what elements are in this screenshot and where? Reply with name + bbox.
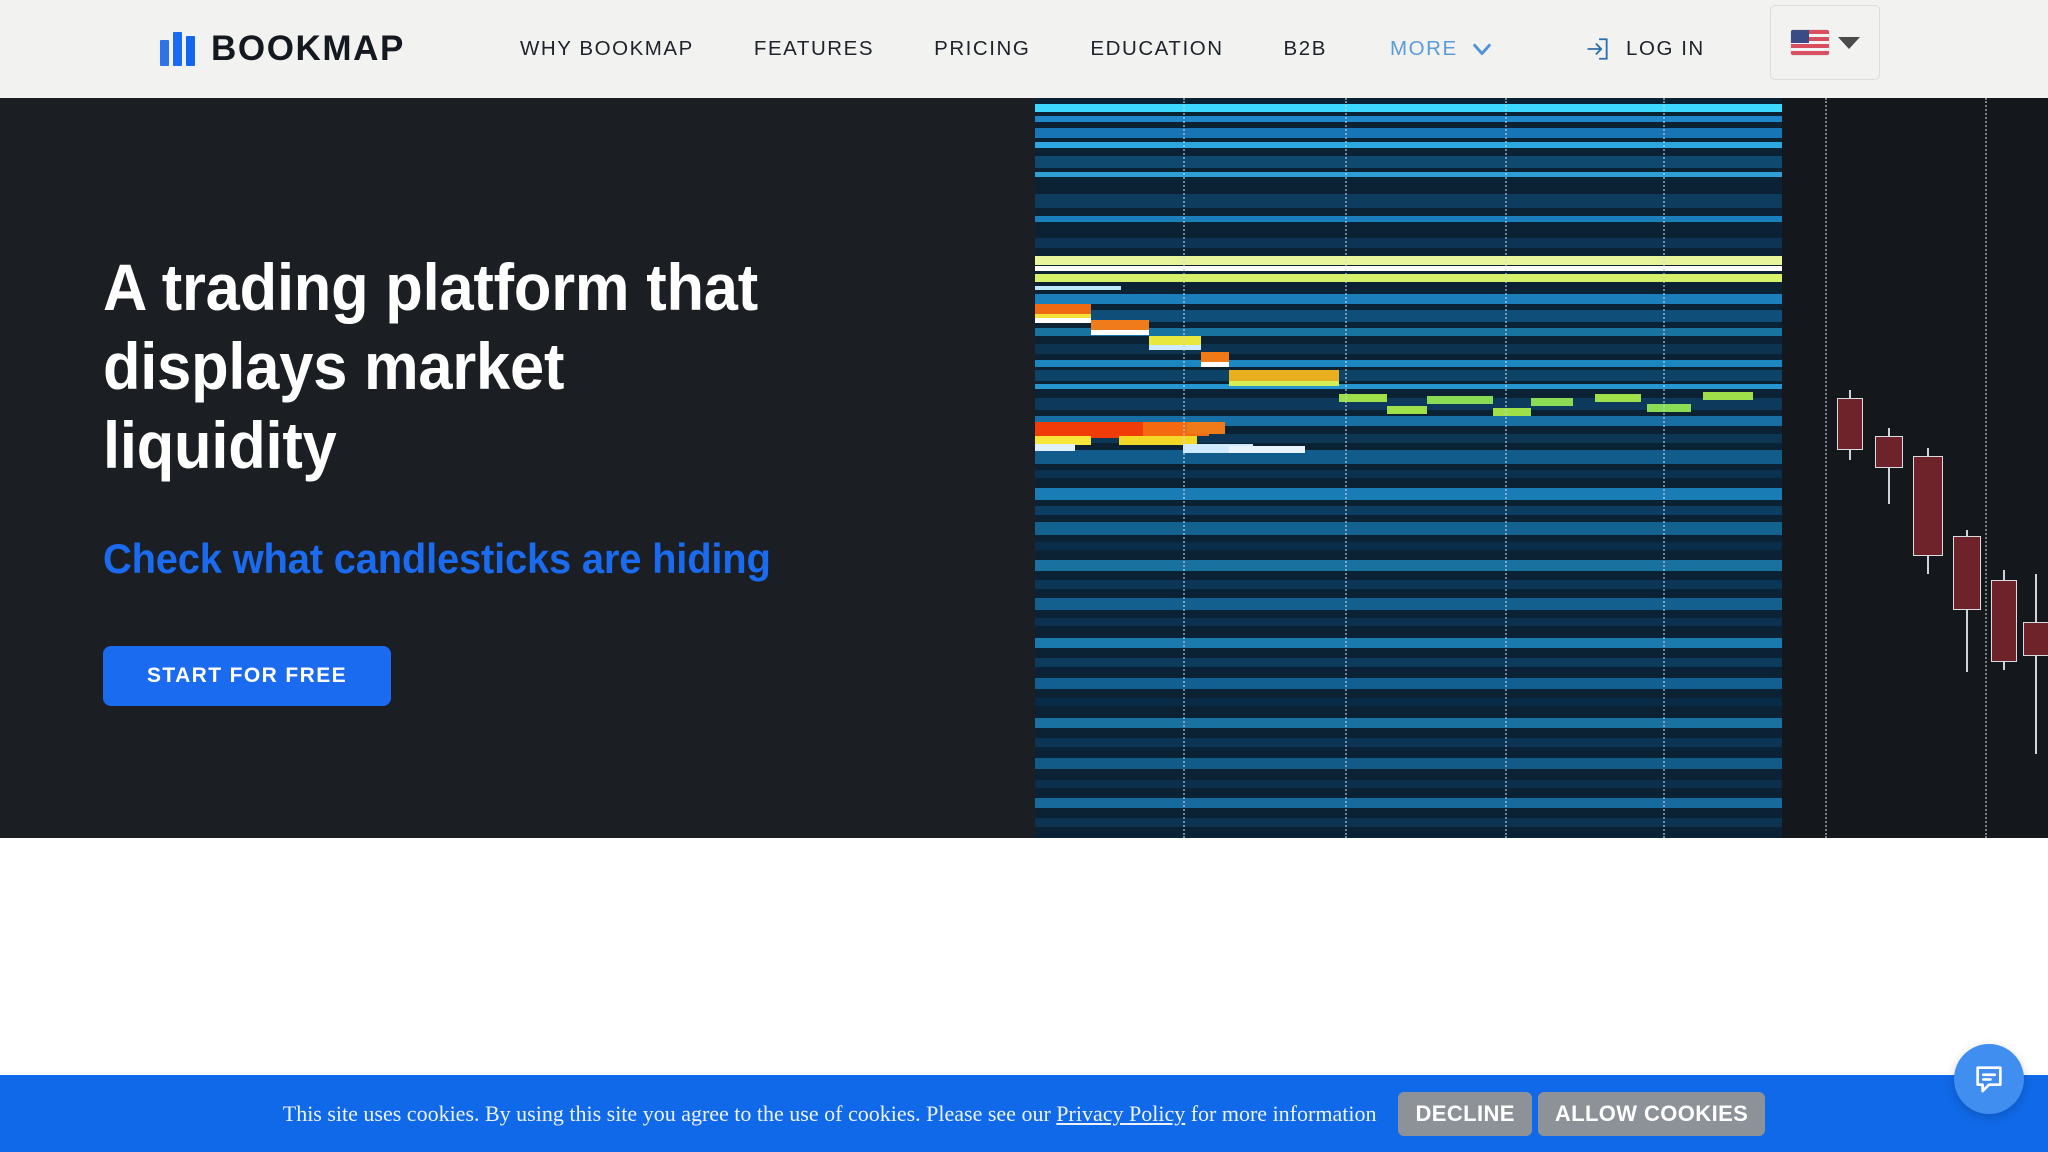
gridline	[1663, 98, 1665, 838]
heatmap-cell	[1035, 738, 1782, 747]
heatmap-cell	[1035, 194, 1782, 208]
logo[interactable]: BOOKMAP	[160, 29, 405, 69]
more-label: MORE	[1390, 37, 1458, 61]
heatmap-cell	[1035, 450, 1782, 464]
heatmap-cell	[1201, 362, 1229, 367]
decline-cookies-button[interactable]: DECLINE	[1398, 1092, 1531, 1136]
privacy-policy-link[interactable]: Privacy Policy	[1056, 1101, 1185, 1126]
chat-bubble-icon	[1972, 1062, 2006, 1096]
heatmap-cell	[1149, 345, 1201, 350]
gridline	[1825, 98, 1827, 838]
triangle-down-icon	[1838, 37, 1860, 49]
heatmap-cell	[1035, 266, 1782, 271]
heatmap-cell	[1035, 618, 1782, 626]
site-header: BOOKMAP WHY BOOKMAP FEATURES PRICING EDU…	[0, 0, 2048, 98]
heatmap-cell	[1035, 156, 1782, 168]
heatmap-cell	[1035, 638, 1782, 648]
logo-text: BOOKMAP	[211, 29, 405, 69]
heatmap-cell	[1035, 142, 1782, 148]
heatmap-cell	[1229, 370, 1339, 381]
heatmap-cell	[1035, 104, 1782, 112]
nav-item-education[interactable]: EDUCATION	[1060, 37, 1253, 61]
heatmap-cell	[1149, 336, 1201, 345]
hero-copy: A trading platform that displays market …	[103, 248, 1003, 706]
hero-title-line-3: liquidity	[103, 408, 337, 482]
chevron-down-icon	[1471, 38, 1493, 60]
heatmap-cell	[1427, 396, 1493, 404]
candlestick	[2023, 574, 2048, 754]
heatmap-cell	[1187, 422, 1225, 434]
cookie-text-after: for more information	[1185, 1101, 1376, 1126]
login-button[interactable]: LOG IN	[1585, 36, 1705, 62]
bookmap-bars-icon	[160, 32, 195, 66]
heatmap-cell	[1035, 294, 1782, 304]
heatmap-cell	[1035, 780, 1782, 788]
login-label: LOG IN	[1626, 37, 1705, 61]
nav-item-b2b[interactable]: B2B	[1254, 37, 1357, 61]
heatmap-cell	[1229, 381, 1339, 386]
heatmap-cell	[1035, 798, 1782, 808]
heatmap-cell	[1035, 344, 1782, 354]
allow-cookies-button[interactable]: ALLOW COOKIES	[1538, 1092, 1765, 1136]
heatmap-cell	[1091, 330, 1149, 335]
page-title: A trading platform that displays market …	[103, 248, 940, 485]
language-selector[interactable]	[1770, 5, 1880, 80]
cookie-text-before: This site uses cookies. By using this si…	[283, 1101, 1057, 1126]
heatmap-cell	[1387, 406, 1427, 414]
heatmap-cell	[1035, 256, 1782, 265]
heatmap-cell	[1035, 818, 1782, 827]
candlestick	[1991, 570, 2017, 670]
nav-item-pricing[interactable]: PRICING	[904, 37, 1060, 61]
heatmap-cell	[1091, 320, 1149, 330]
heatmap-canvas	[1035, 98, 1782, 838]
chat-widget-button[interactable]	[1954, 1044, 2024, 1114]
heatmap-cell	[1035, 580, 1782, 589]
gridline	[1985, 98, 1987, 838]
heatmap-cell	[1035, 560, 1782, 571]
heatmap-cell	[1035, 506, 1782, 515]
nav-item-features[interactable]: FEATURES	[724, 37, 904, 61]
us-flag-icon	[1791, 30, 1829, 55]
heatmap-cell	[1201, 352, 1229, 362]
cookie-buttons: DECLINE ALLOW COOKIES	[1398, 1092, 1765, 1136]
heatmap-cell	[1035, 384, 1782, 389]
heatmap-cell	[1035, 488, 1782, 500]
heatmap-cell	[1035, 444, 1075, 451]
heatmap-cell	[1703, 392, 1753, 400]
heatmap-cell	[1595, 394, 1641, 402]
heatmap-cell	[1035, 658, 1782, 667]
more-menu-button[interactable]: MORE	[1390, 37, 1493, 61]
heatmap-cell	[1035, 238, 1782, 248]
heatmap-cell	[1229, 446, 1305, 453]
heatmap-cell	[1035, 172, 1782, 177]
hero-title-line-2: displays market	[103, 329, 564, 403]
heatmap-cell	[1035, 128, 1782, 138]
heatmap-cell	[1035, 216, 1782, 222]
candlestick	[1913, 448, 1943, 574]
heatmap-cell	[1035, 470, 1782, 478]
heatmap-cell	[1035, 116, 1782, 122]
heatmap-cell	[1035, 678, 1782, 689]
heatmap-cell	[1531, 398, 1573, 406]
login-arrow-icon	[1585, 36, 1611, 62]
nav-item-why-bookmap[interactable]: WHY BOOKMAP	[520, 37, 724, 61]
hero-title-line-1: A trading platform that	[103, 250, 758, 324]
heatmap-cell	[1035, 522, 1782, 535]
heatmap-cell	[1035, 360, 1782, 367]
heatmap-cell	[1035, 370, 1782, 381]
heatmap-cell	[1035, 318, 1091, 323]
gridline	[1345, 98, 1347, 838]
heatmap-cell	[1035, 718, 1782, 728]
candlestick	[1875, 428, 1903, 504]
candlestick	[1837, 390, 1863, 460]
heatmap-cell	[1493, 408, 1531, 416]
cookie-message: This site uses cookies. By using this si…	[283, 1101, 1377, 1127]
gridline	[1505, 98, 1507, 838]
heatmap-cell	[1035, 274, 1782, 282]
heatmap-cell	[1035, 698, 1782, 706]
candlestick	[1953, 530, 1981, 672]
heatmap-cell	[1035, 286, 1121, 290]
heatmap-cell	[1647, 404, 1691, 412]
cookie-consent-banner: This site uses cookies. By using this si…	[0, 1075, 2048, 1152]
start-for-free-button[interactable]: START FOR FREE	[103, 646, 391, 706]
heatmap-cell	[1035, 598, 1782, 610]
liquidity-chart	[1035, 98, 2048, 838]
heatmap-cell	[1035, 542, 1782, 550]
hero-section: A trading platform that displays market …	[0, 98, 2048, 838]
hero-subtitle: Check what candlesticks are hiding	[103, 535, 958, 583]
gridline	[1183, 98, 1185, 838]
heatmap-cell	[1035, 758, 1782, 769]
main-navigation: WHY BOOKMAP FEATURES PRICING EDUCATION B…	[520, 37, 1357, 61]
